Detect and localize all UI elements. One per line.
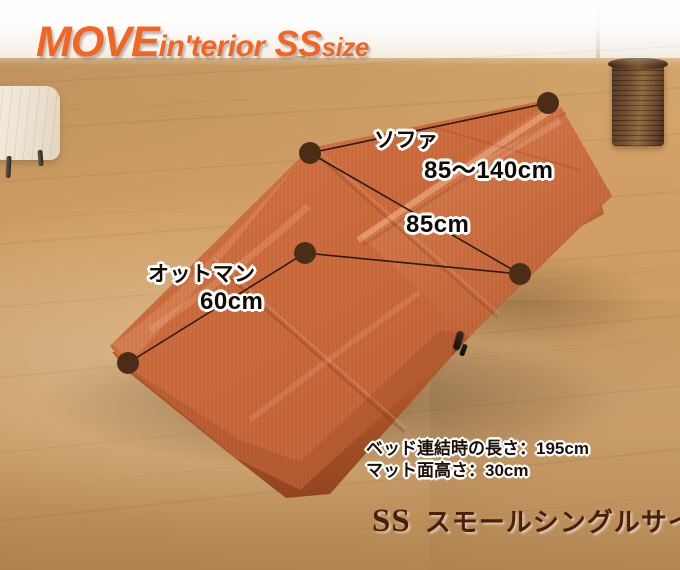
size-code-text: SS	[372, 503, 411, 539]
label-ottoman-depth: 60cm	[200, 288, 263, 316]
label-sofa-width-text: 85cm	[406, 211, 469, 238]
label-sofa-text: ソファ	[374, 129, 439, 152]
title-size-word: size	[322, 32, 369, 62]
measure-point-top-right	[537, 92, 559, 114]
label-sofa-length: 85〜140cm	[424, 150, 553, 185]
measure-point-right-middle	[509, 263, 531, 285]
measurement-overlay	[0, 0, 680, 570]
brand-name: MOVE	[36, 18, 159, 66]
size-designation: SSスモールシングルサイズ	[372, 502, 680, 540]
label-ottoman-section: オットマン	[148, 258, 256, 288]
title-size-code: SS	[275, 23, 322, 64]
product-image: ソファ 85〜140cm 85cm オットマン 60cm MOVEin'teri…	[0, 0, 680, 570]
product-title: MOVEin'teriorSSsize	[36, 18, 369, 67]
spec-mat-height: マット面高さ：30cm	[366, 460, 589, 482]
measure-point-top-left	[299, 142, 321, 164]
label-sofa-width: 85cm	[406, 211, 469, 239]
measure-point-bottom-left	[117, 352, 139, 374]
size-name-text: スモールシングルサイズ	[425, 508, 680, 537]
label-sofa-length-text: 85〜140cm	[424, 157, 553, 184]
label-ottoman-depth-text: 60cm	[200, 288, 263, 315]
brand-suffix: in'terior	[159, 30, 265, 63]
spec-list: ベッド連結時の長さ：195cm マット面高さ：30cm	[366, 438, 589, 482]
label-ottoman-text: オットマン	[148, 263, 256, 286]
measure-point-center	[294, 242, 316, 264]
spec-bed-length: ベッド連結時の長さ：195cm	[366, 438, 589, 460]
